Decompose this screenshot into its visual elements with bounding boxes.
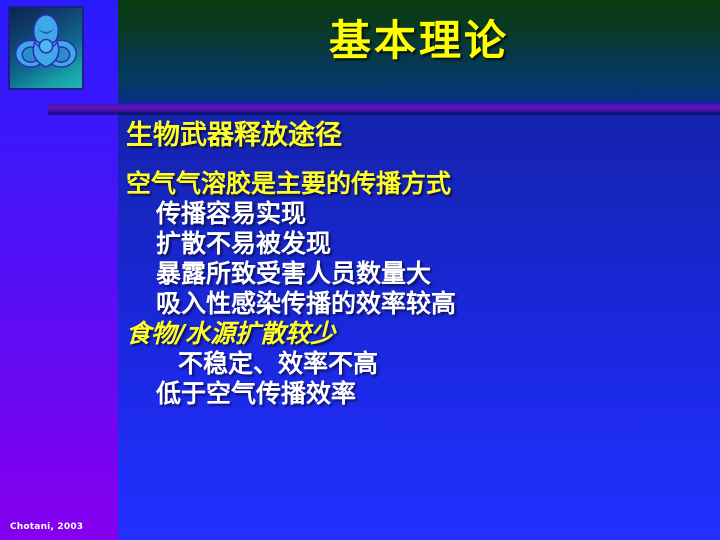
slide-footer-credit: Chotani, 2003 [10, 522, 83, 532]
bullet-item: 暴露所致受害人员数量大 [126, 261, 706, 286]
bullet-item: 低于空气传播效率 [126, 381, 706, 406]
logo-plate [8, 6, 84, 90]
content-block-1: 空气气溶胶是主要的传播方式 传播容易实现 扩散不易被发现 暴露所致受害人员数量大… [126, 171, 706, 316]
slide-body: 生物武器释放途径 空气气溶胶是主要的传播方式 传播容易实现 扩散不易被发现 暴露… [126, 122, 706, 411]
content-block-2: 食物/水源扩散较少 不稳定、效率不高 低于空气传播效率 [126, 321, 706, 406]
header-divider-rule [48, 104, 720, 112]
header-divider-shadow [48, 112, 720, 115]
slide-subtitle: 生物武器释放途径 [126, 122, 706, 149]
bullet-item: 扩散不易被发现 [126, 231, 706, 256]
bullet-item: 吸入性感染传播的效率较高 [126, 291, 706, 316]
biohazard-icon [10, 8, 82, 88]
presentation-slide: 基本理论 生物武器释放途径 空气气溶胶是主要的传播方式 传播容易实现 扩散不易被… [0, 0, 720, 540]
bullet-item: 传播容易实现 [126, 201, 706, 226]
block-heading: 空气气溶胶是主要的传播方式 [126, 171, 706, 196]
bullet-item: 不稳定、效率不高 [126, 351, 706, 376]
slide-title: 基本理论 [118, 18, 720, 64]
block-heading: 食物/水源扩散较少 [126, 321, 706, 346]
